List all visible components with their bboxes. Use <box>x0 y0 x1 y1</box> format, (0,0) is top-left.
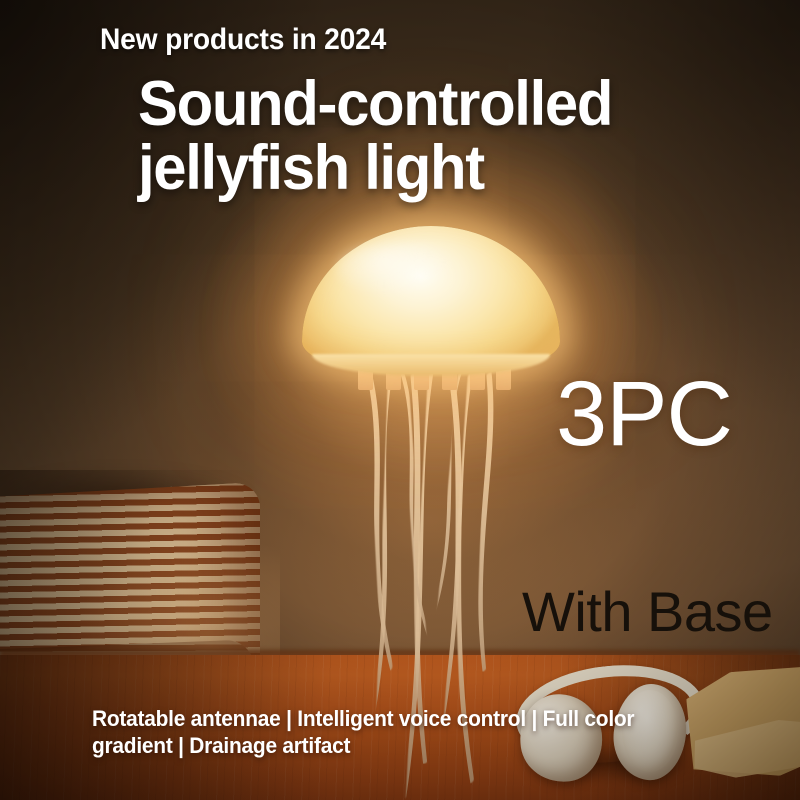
jellyfish-tentacle <box>366 372 393 672</box>
with-base-badge: With Base <box>522 584 773 640</box>
feature-list-text: Rotatable antennae | Intelligent voice c… <box>92 706 719 760</box>
product-ad-banner: New products in 2024 Sound-controlled je… <box>0 0 800 800</box>
quantity-badge: 3PC <box>556 368 732 460</box>
eyebrow-text: New products in 2024 <box>100 24 386 56</box>
wall-shadow-top-right <box>540 0 800 420</box>
dome-rim <box>312 354 550 376</box>
page-title: Sound-controlled jellyfish light <box>138 72 612 201</box>
headline-line-1: Sound-controlled <box>138 72 612 136</box>
jellyfish-tentacle <box>476 372 497 672</box>
dome-highlight <box>336 242 456 296</box>
jellyfish-dome-shade <box>302 226 560 374</box>
headline-line-2: jellyfish light <box>138 136 612 200</box>
